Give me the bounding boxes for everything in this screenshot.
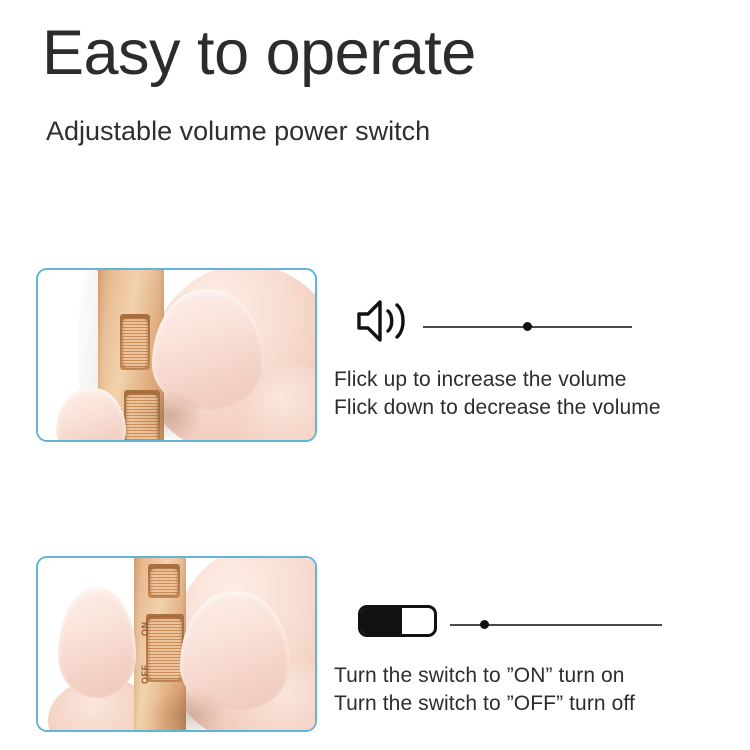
product-feature-page: Easy to operate Adjustable volume power … bbox=[0, 0, 750, 750]
volume-product-photo: ON bbox=[38, 270, 315, 440]
volume-photo-card: ON bbox=[36, 268, 317, 442]
volume-caption-line-2: Flick down to decrease the volume bbox=[334, 394, 734, 422]
toggle-switch-fill bbox=[360, 607, 402, 635]
volume-instruction-block: Flick up to increase the volume Flick do… bbox=[334, 296, 734, 422]
power-product-photo: ON OFF bbox=[38, 558, 315, 730]
power-caption-line-2: Turn the switch to ”OFF” turn off bbox=[334, 690, 734, 718]
volume-icon-row bbox=[334, 296, 734, 346]
power-instruction-block: Turn the switch to ”ON” turn on Turn the… bbox=[334, 598, 734, 718]
power-captions: Turn the switch to ”ON” turn on Turn the… bbox=[334, 662, 734, 718]
power-caption-line-1: Turn the switch to ”ON” turn on bbox=[334, 662, 734, 690]
power-slider-knob[interactable] bbox=[480, 620, 489, 629]
page-subtitle: Adjustable volume power switch bbox=[46, 114, 430, 148]
power-icon-row bbox=[334, 598, 734, 648]
volume-captions: Flick up to increase the volume Flick do… bbox=[334, 366, 734, 422]
power-photo-card: ON OFF bbox=[36, 556, 317, 732]
speaker-volume-icon bbox=[356, 298, 414, 349]
page-title: Easy to operate bbox=[42, 16, 476, 90]
volume-caption-line-1: Flick up to increase the volume bbox=[334, 366, 734, 394]
toggle-switch-icon[interactable] bbox=[358, 605, 437, 637]
volume-slider-knob[interactable] bbox=[523, 322, 532, 331]
